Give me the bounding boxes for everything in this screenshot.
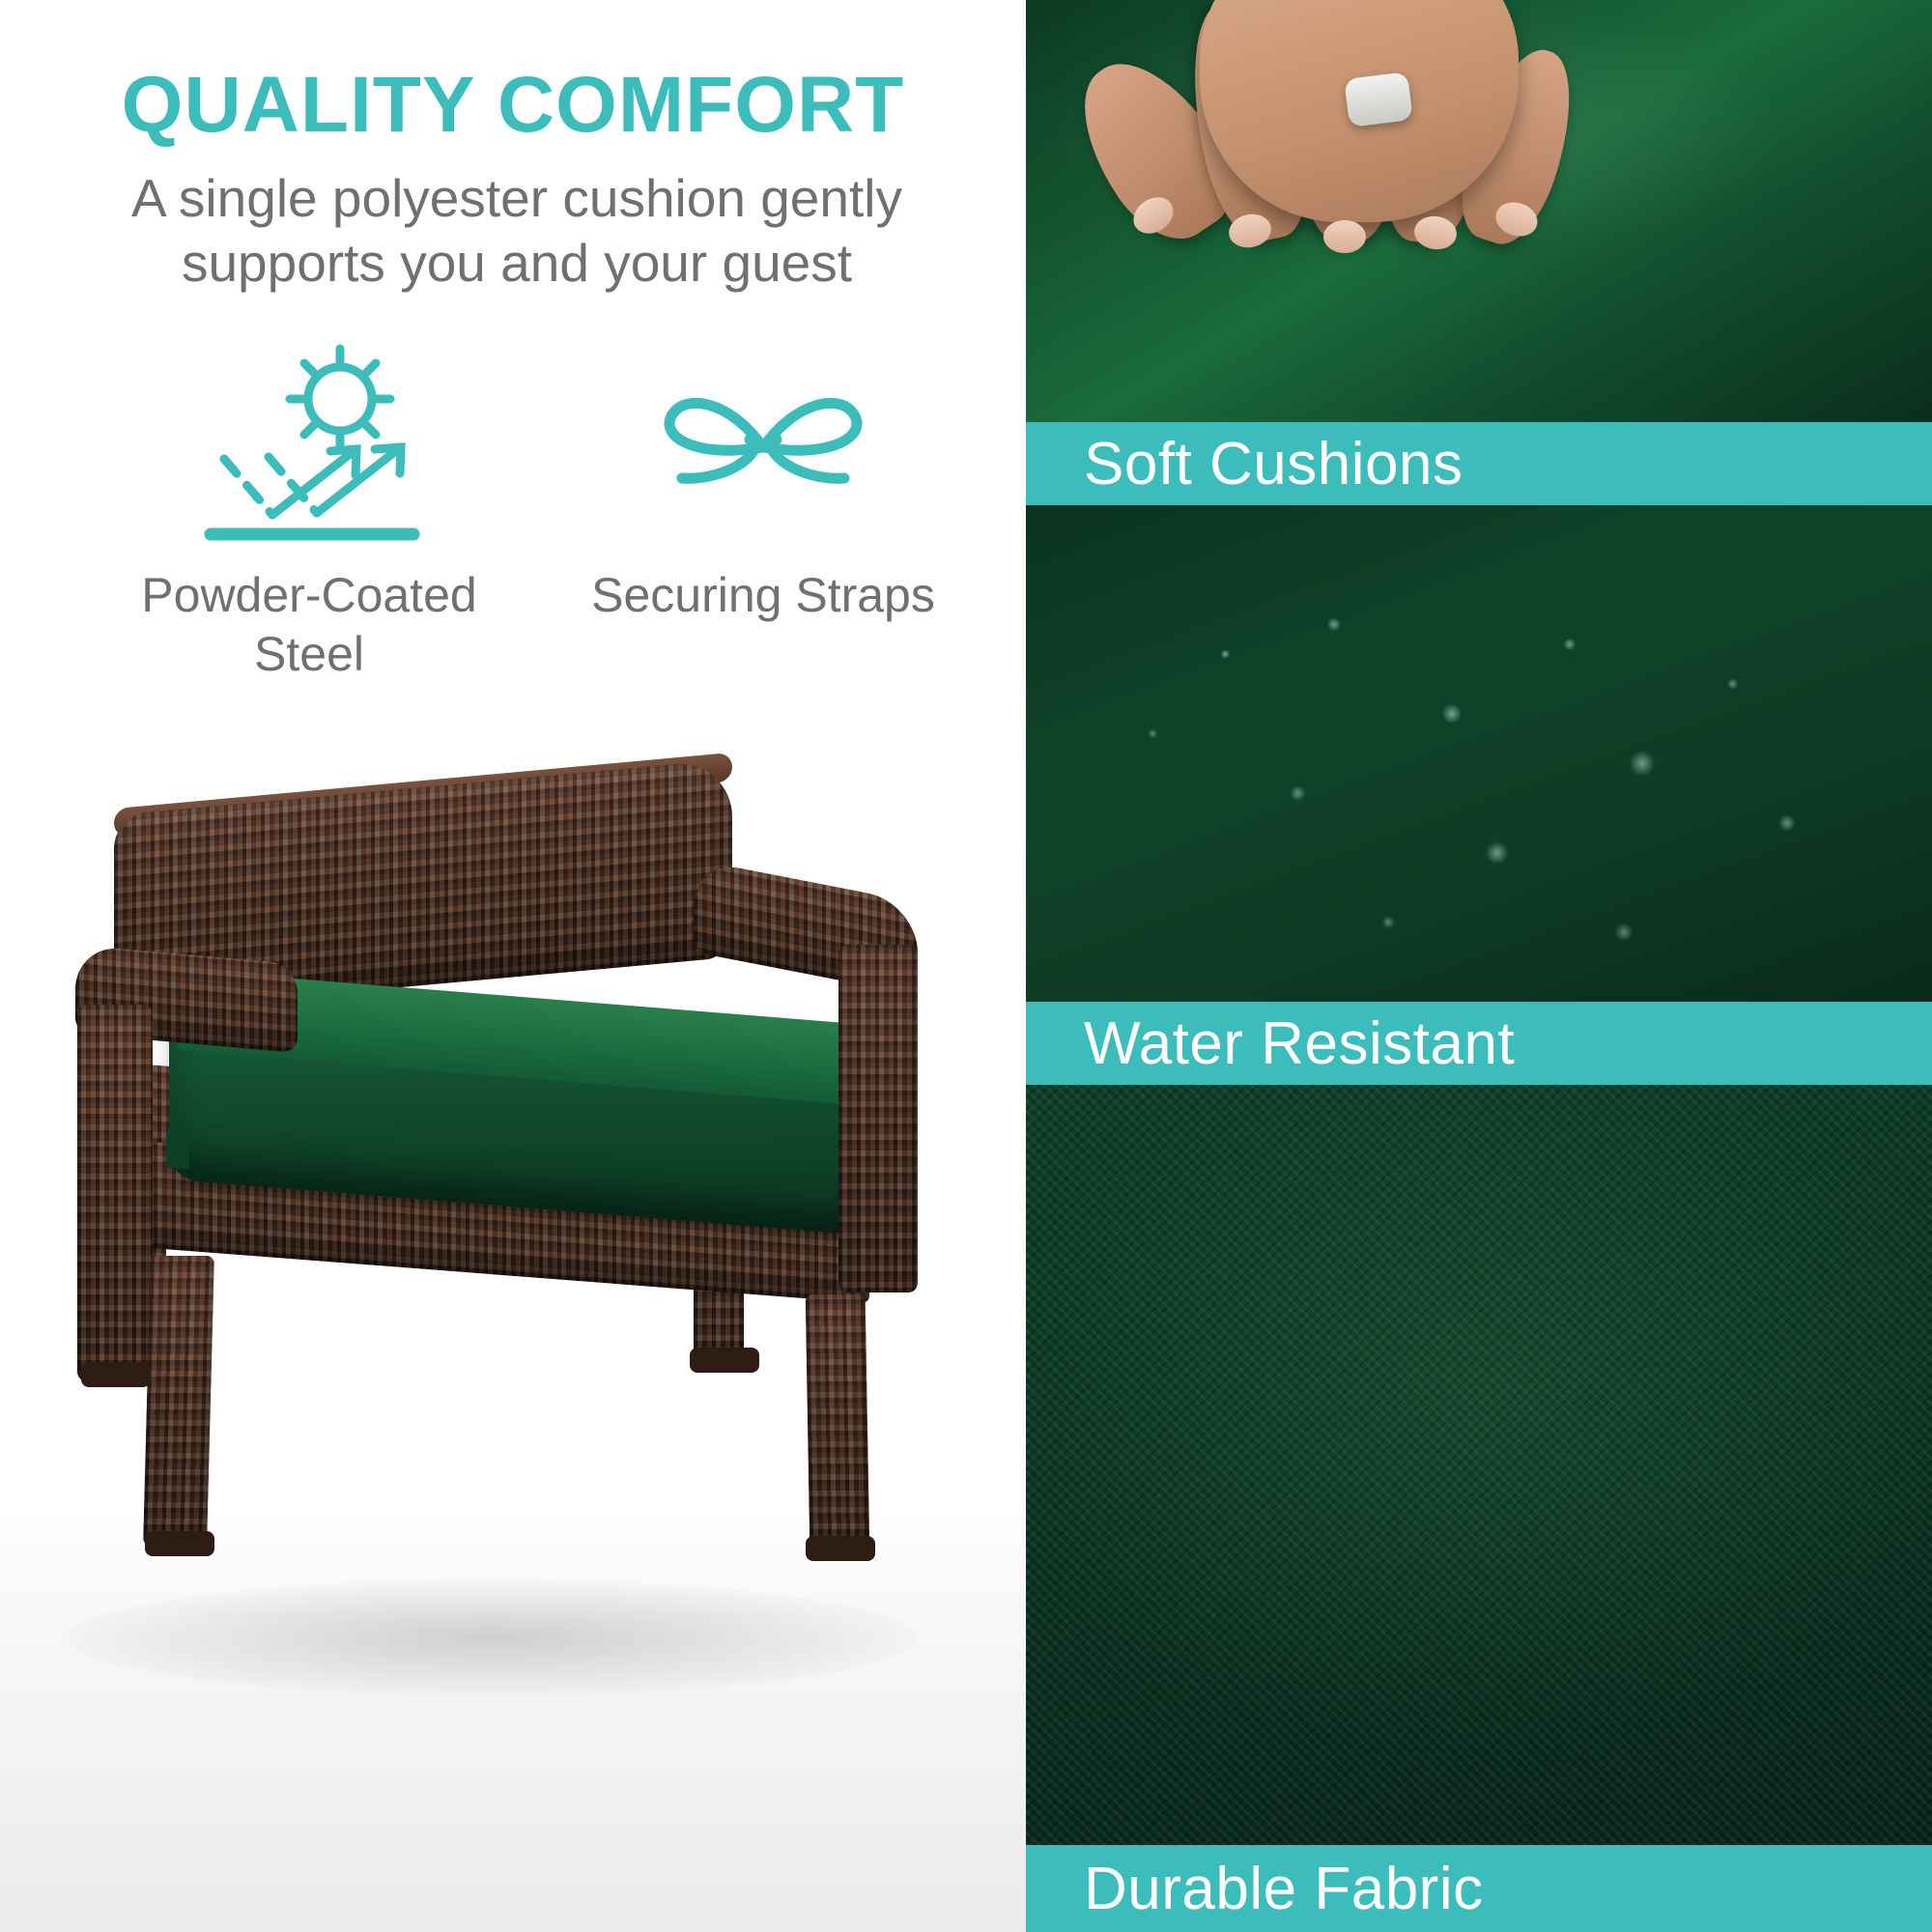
feature-tile-water-resistant: Water Resistant [1026,505,1932,1085]
bench-arm-post-right [838,945,918,1293]
bench-foot-back-right [690,1348,759,1373]
bench-shadow [68,1579,918,1695]
page-title: QUALITY COMFORT [0,66,1026,145]
woven-fabric-photo [1026,1085,1932,1845]
product-photo-bench [0,715,1026,1932]
uv-weather-resistant-icon [101,338,517,560]
bench-arm-post-left [77,1005,153,1381]
right-panel: Soft Cushions Water Resistant Durable Fa… [1026,0,1932,1932]
cushion-securing-strap [166,1129,189,1170]
feature-securing-straps: Securing Straps [555,338,971,625]
feature-label: Powder-Coated Steel [101,566,517,684]
hand-graphic [1084,0,1625,386]
finger-ring-band [1344,71,1413,128]
bench-leg-front-left [143,1256,214,1546]
tile-label-durable-fabric: Durable Fabric [1026,1845,1932,1932]
tile-label-soft-cushions: Soft Cushions [1026,422,1932,505]
feature-label: Securing Straps [555,566,971,625]
water-droplets-photo [1026,505,1932,1002]
feature-tile-soft-cushions: Soft Cushions [1026,0,1932,505]
left-panel: QUALITY COMFORT A single polyester cushi… [0,0,1026,1932]
page-subtitle: A single polyester cushion gently suppor… [87,166,947,296]
bow-ribbon-icon [555,338,971,560]
bench-foot-front-right [806,1536,875,1561]
cushion-hand-photo [1026,0,1932,422]
bench-foot-left [81,1362,151,1387]
bench-foot-front-left [145,1531,214,1556]
feature-powder-coated-steel: Powder-Coated Steel [101,338,517,684]
infographic-page: QUALITY COMFORT A single polyester cushi… [0,0,1932,1932]
nail-middle [1323,220,1366,253]
bench-leg-front-right [806,1294,870,1550]
tile-label-water-resistant: Water Resistant [1026,1002,1932,1085]
feature-tile-durable-fabric: Durable Fabric [1026,1085,1932,1932]
